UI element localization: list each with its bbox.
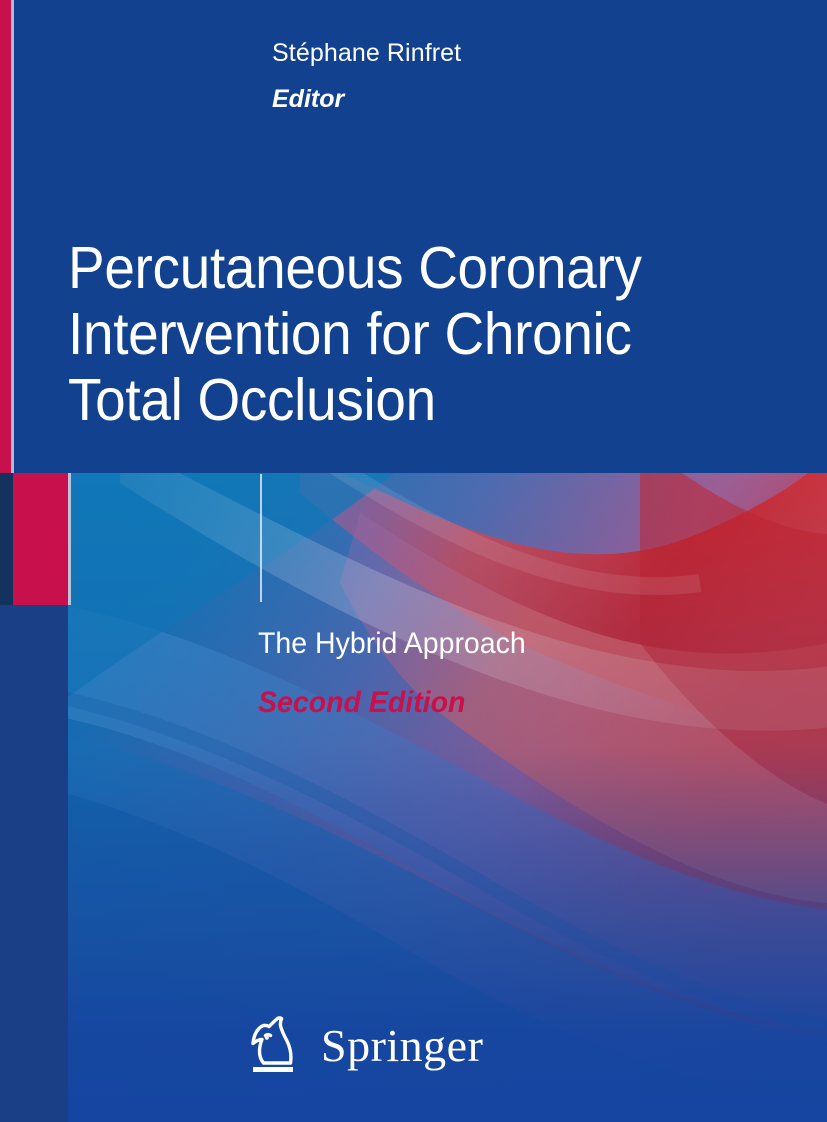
vertical-rule xyxy=(260,474,262,602)
left-accent-stripe-crimson xyxy=(0,0,11,473)
book-title: Percutaneous Coronary Intervention for C… xyxy=(68,235,738,433)
editor-name: Stéphane Rinfret xyxy=(272,39,461,68)
left-crimson-block xyxy=(13,473,68,605)
left-edge-dark-navy xyxy=(0,473,13,605)
springer-wordmark: Springer xyxy=(321,1023,483,1069)
left-lower-navy-panel xyxy=(0,605,68,1122)
editor-role: Editor xyxy=(272,85,344,114)
edition-label: Second Edition xyxy=(258,686,465,720)
left-accent-hairline xyxy=(11,0,14,473)
publisher-logo: Springer xyxy=(245,1012,483,1080)
springer-knight-icon xyxy=(245,1012,307,1080)
book-cover: Stéphane Rinfret Editor Percutaneous Cor… xyxy=(0,0,827,1122)
left-crimson-block-hairline xyxy=(68,473,71,605)
book-subtitle: The Hybrid Approach xyxy=(258,627,526,661)
